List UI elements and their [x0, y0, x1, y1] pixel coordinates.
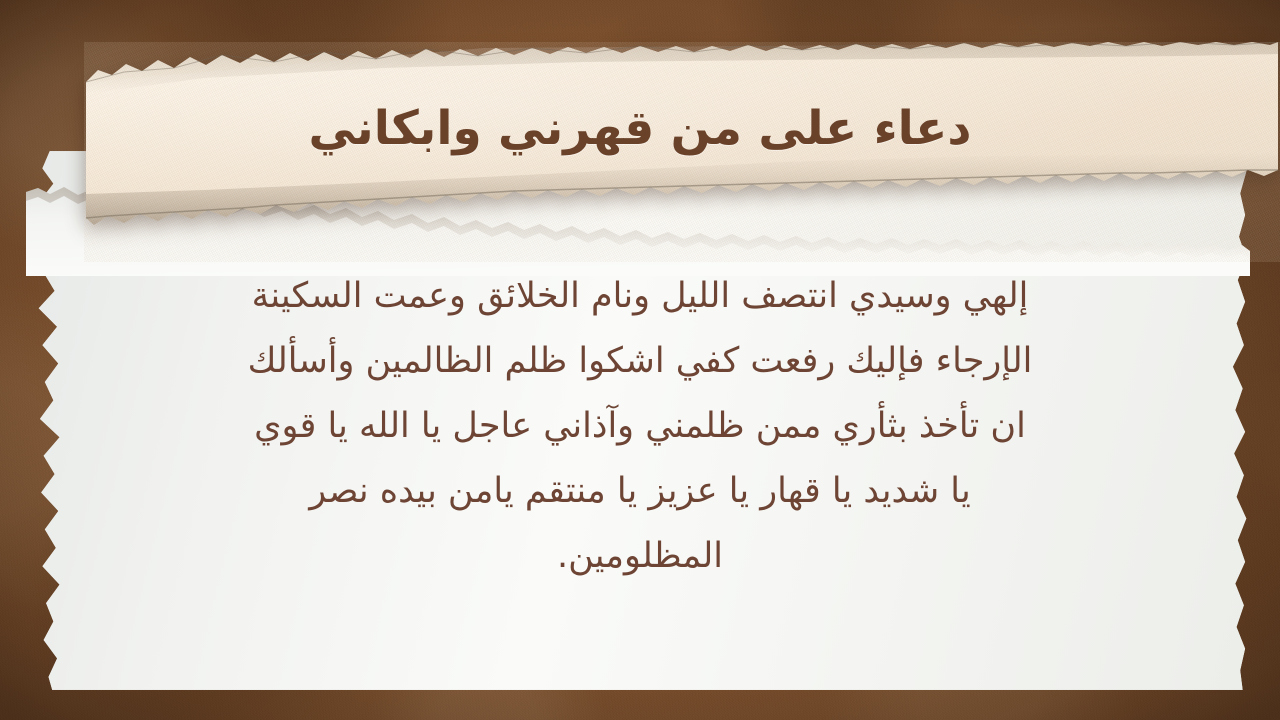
- title-block: دعاء على من قهرني وابكاني: [0, 104, 1280, 155]
- dua-body-line-5: المظلومين.: [90, 524, 1190, 589]
- dua-body-line-2: الإرجاء فإليك رفعت كفي اشكوا ظلم الظالمي…: [90, 329, 1190, 394]
- dua-body-line-3: ان تأخذ بثأري ممن ظلمني وآذاني عاجل يا ا…: [90, 394, 1190, 459]
- dua-body-line-4: يا شديد يا قهار يا عزيز يا منتقم يامن بي…: [90, 459, 1190, 524]
- dua-title: دعاء على من قهرني وابكاني: [285, 104, 996, 155]
- dua-body-line-1: إلهي وسيدي انتصف الليل ونام الخلائق وعمت…: [90, 264, 1190, 329]
- dua-card-canvas: دعاء على من قهرني وابكاني إلهي وسيدي انت…: [0, 0, 1280, 720]
- dua-body-block: إلهي وسيدي انتصف الليل ونام الخلائق وعمت…: [90, 264, 1190, 589]
